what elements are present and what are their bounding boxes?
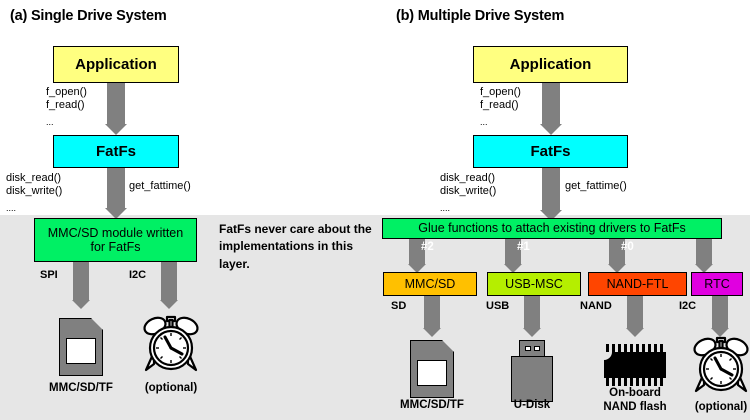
bus-label-i2c: I2C [679, 300, 696, 312]
single-api-line3: ... [46, 117, 54, 128]
multi-disk-line3: .... [440, 203, 450, 214]
multi-arrow-app-to-fatfs [535, 83, 567, 135]
multi-device-caption-clock: (optional) [666, 400, 750, 414]
multi-disk-line2: disk_write() [440, 185, 496, 199]
multi-arrow-usb-bus [518, 296, 546, 338]
single-bus-label-spi: SPI [40, 269, 58, 281]
single-bus-label-i2c: I2C [129, 269, 146, 281]
single-arrow-i2c [155, 262, 183, 310]
single-arrow-fatfs-to-module [100, 168, 132, 220]
multi-disk-line1: disk_read() [440, 172, 495, 186]
single-mmcsd-module-label: MMC/SD module written for FatFs [41, 226, 190, 255]
drive-number-1: #1 [517, 241, 530, 253]
implementation-layer-note: FatFs never care about the implementatio… [219, 221, 384, 273]
glue-functions-box[interactable]: Glue functions to attach existing driver… [382, 218, 722, 239]
multi-application-box[interactable]: Application [473, 46, 628, 83]
multi-arrow-i2c-bus [706, 296, 734, 338]
single-disk-line2: disk_write() [6, 185, 62, 199]
multi-device-caption-usb: U-Disk [477, 398, 587, 412]
single-disk-line3: .... [6, 203, 16, 214]
section-title-multiple-drive: (b) Multiple Drive System [396, 8, 564, 24]
nand-flash-chip-icon [604, 343, 666, 387]
single-disk-line1: disk_read() [6, 172, 61, 186]
drive-number-2: #2 [421, 241, 434, 253]
multi-device-caption-nand-line1: On-board [580, 386, 690, 400]
sd-card-icon [59, 318, 103, 376]
alarm-clock-icon [141, 312, 201, 376]
multi-getfattime-label: get_fattime() [565, 180, 627, 194]
bus-label-nand: NAND [580, 300, 612, 312]
single-getfattime-label: get_fattime() [129, 180, 191, 194]
section-title-single-drive: (a) Single Drive System [10, 8, 167, 24]
single-fatfs-box[interactable]: FatFs [53, 135, 179, 168]
sd-card-icon-multi [410, 340, 454, 398]
multi-api-line2: f_read() [480, 99, 519, 113]
usb-drive-icon [511, 340, 553, 402]
bus-label-sd: SD [391, 300, 406, 312]
single-mmcsd-module-box[interactable]: MMC/SD module written for FatFs [34, 218, 197, 262]
multi-api-line3: ... [480, 117, 488, 128]
multi-arrow-sd-bus [418, 296, 446, 338]
driver-box-usbmsc[interactable]: USB-MSC [487, 272, 581, 296]
single-arrow-spi [67, 262, 95, 310]
single-api-line2: f_read() [46, 99, 85, 113]
single-arrow-app-to-fatfs [100, 83, 132, 135]
driver-box-mmcsd[interactable]: MMC/SD [383, 272, 477, 296]
multi-device-caption-card: MMC/SD/TF [377, 398, 487, 412]
single-device-caption-clock: (optional) [116, 381, 226, 395]
multi-arrow-glue-to-rtc [690, 239, 718, 273]
drive-number-0: #0 [621, 241, 634, 253]
multi-arrow-nand-bus [621, 296, 649, 338]
single-api-line1: f_open() [46, 86, 87, 100]
multi-api-line1: f_open() [480, 86, 521, 100]
multi-fatfs-box[interactable]: FatFs [473, 135, 628, 168]
alarm-clock-icon-multi [691, 333, 750, 397]
diagram-canvas: (a) Single Drive System Application f_op… [0, 0, 750, 420]
bus-label-usb: USB [486, 300, 509, 312]
multi-arrow-fatfs-to-glue [535, 168, 567, 220]
single-application-box[interactable]: Application [53, 46, 179, 83]
driver-box-rtc[interactable]: RTC [691, 272, 743, 296]
driver-box-nandftl[interactable]: NAND-FTL [588, 272, 687, 296]
